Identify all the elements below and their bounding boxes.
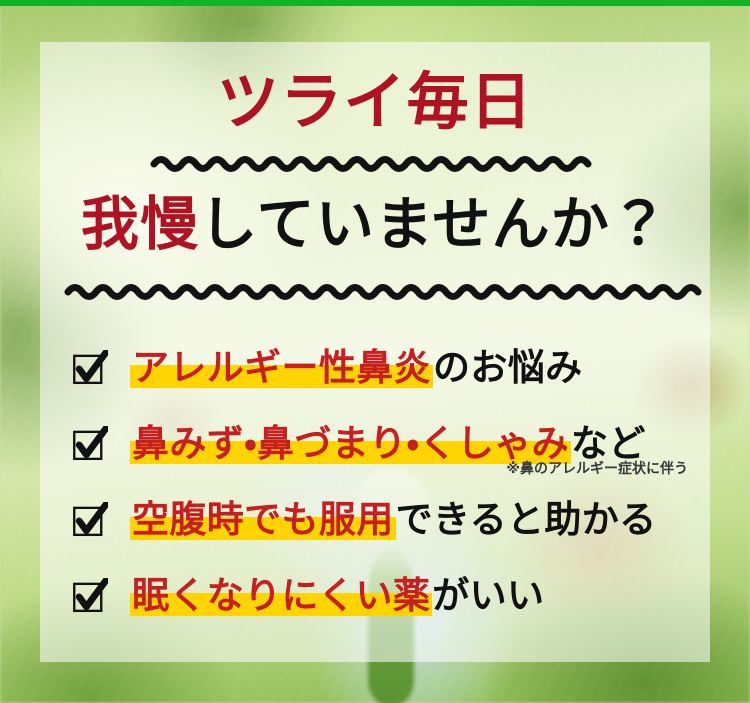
footnote-text: ※鼻のアレルギー症状に伴う [506,458,688,478]
checklist-item: アレルギー性鼻炎のお悩み [0,330,750,406]
benefit-checklist: アレルギー性鼻炎のお悩み 鼻みず・鼻づまり・くしゃみなど 空腹時でも [0,330,750,634]
top-green-rule [0,0,750,6]
wavy-underline-bottom [66,280,692,302]
banner-content: ツライ毎日 我慢していませんか？ アレルギー性鼻炎のお悩み [0,0,750,703]
checklist-item-tail: できると助かる [396,499,657,540]
checklist-item-highlight: アレルギー性鼻炎 [130,347,433,388]
checklist-item-tail: がいい [432,575,544,616]
headline-secondary: 我慢していませんか？ [0,196,750,254]
checkbox-checked-icon [72,350,108,386]
checklist-item-text: 空腹時でも服用できると助かる [130,500,656,541]
checklist-item-highlight: 眠くなりにくい薬 [130,575,432,616]
checklist-item: 空腹時でも服用できると助かる [0,482,750,558]
checkbox-checked-icon [72,426,108,462]
checklist-item: 眠くなりにくい薬がいい [0,558,750,634]
headline-secondary-rest: していませんか？ [199,192,669,257]
advertisement-banner: ツライ毎日 我慢していませんか？ アレルギー性鼻炎のお悩み [0,0,750,703]
checklist-item-tail: のお悩み [433,347,582,388]
checkbox-checked-icon [72,578,108,614]
checklist-item-text: アレルギー性鼻炎のお悩み [130,348,582,389]
checkbox-checked-icon [72,502,108,538]
headline-secondary-accent: 我慢 [81,192,199,257]
wavy-underline-top [152,152,600,174]
checklist-item-highlight: 鼻みず・鼻づまり・くしゃみ [130,423,571,464]
checklist-item-text: 眠くなりにくい薬がいい [130,576,544,617]
checklist-item-highlight: 空腹時でも服用 [130,499,396,540]
headline-primary: ツライ毎日 [0,72,750,134]
